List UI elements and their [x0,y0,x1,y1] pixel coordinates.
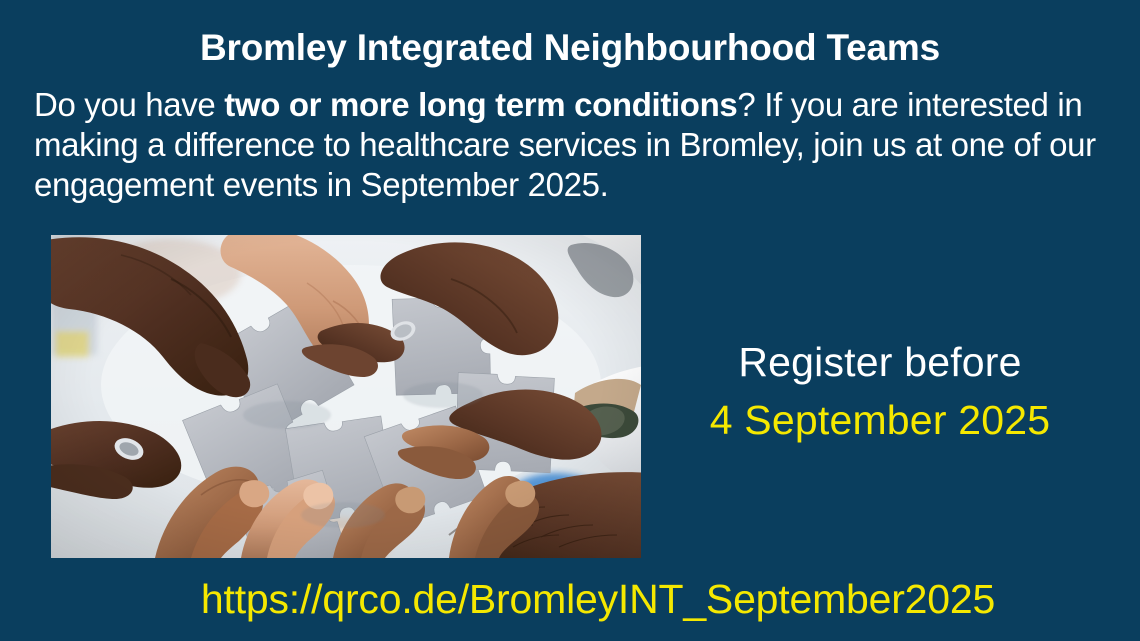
intro-text-emphasis: two or more long term conditions [224,86,737,123]
intro-text-part1: Do you have [34,86,224,123]
registration-url[interactable]: https://qrco.de/BromleyINT_September2025 [0,576,1140,623]
intro-paragraph: Do you have two or more long term condit… [34,85,1119,205]
register-before-label: Register before [660,333,1100,391]
register-callout: Register before 4 September 2025 [660,333,1100,449]
teamwork-puzzle-photo [51,235,641,558]
photo-illustration [51,235,641,558]
page-title: Bromley Integrated Neighbourhood Teams [0,27,1140,69]
register-deadline-date: 4 September 2025 [660,391,1100,449]
poster-canvas: Bromley Integrated Neighbourhood Teams D… [0,0,1140,641]
